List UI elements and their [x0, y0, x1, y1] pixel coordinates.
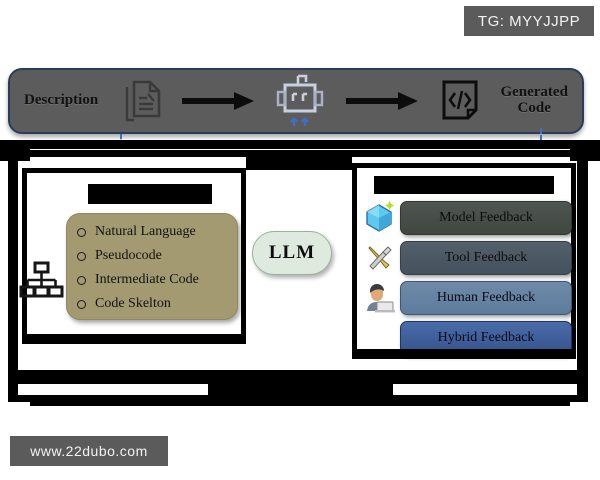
redaction-bar-left-edge — [8, 150, 18, 402]
feedback-model-box[interactable]: Model Feedback — [400, 201, 572, 235]
right-panel-title-redaction — [374, 176, 554, 194]
bullet-icon — [77, 300, 86, 309]
redaction-bar-bottom-3 — [30, 396, 570, 406]
feedback-list: ✦ Model Feedback Tool Feedback Human Fee… — [358, 198, 572, 358]
redaction-bar-center-gap — [246, 150, 352, 170]
list-item: Human Feedback — [358, 278, 572, 317]
robot-icon — [274, 73, 326, 129]
input-type-label: Pseudocode — [95, 248, 162, 264]
llm-node: LLM — [252, 231, 332, 275]
tools-icon — [358, 239, 400, 277]
cube-icon: ✦ — [358, 199, 400, 237]
input-types-box: Natural Language Pseudocode Intermediate… — [66, 213, 238, 320]
feedback-human-box[interactable]: Human Feedback — [400, 281, 572, 315]
redaction-bar-left-inner — [22, 334, 246, 344]
redaction-bar-top-left — [0, 140, 300, 149]
list-item: Tool Feedback — [358, 238, 572, 277]
right-arrow-icon-2 — [346, 90, 418, 112]
pipeline-start-label: Description — [24, 93, 98, 109]
list-item: Pseudocode — [77, 244, 229, 268]
redaction-bar-right-edge — [578, 150, 588, 402]
list-item: ✦ Model Feedback — [358, 198, 572, 237]
person-laptop-icon — [358, 279, 400, 317]
list-item: Code Skelton — [77, 292, 229, 316]
left-panel-title-redaction — [88, 184, 212, 204]
input-type-label: Code Skelton — [95, 296, 171, 312]
pipeline-bar: Description — [8, 68, 584, 134]
code-file-icon — [438, 78, 480, 124]
redaction-bar-top-right — [300, 140, 600, 149]
feedback-tool-box[interactable]: Tool Feedback — [400, 241, 572, 275]
list-item: Natural Language — [77, 220, 229, 244]
site-watermark-badge: www.22dubo.com — [10, 436, 168, 466]
pipeline-end-label-line1: Generated — [500, 85, 567, 101]
right-arrow-icon — [182, 90, 254, 112]
hierarchy-icon — [18, 258, 66, 304]
list-item: Intermediate Code — [77, 268, 229, 292]
input-type-label: Natural Language — [95, 224, 196, 240]
redaction-bar-right-inner — [352, 349, 576, 359]
sparkle-icon: ✦ — [383, 200, 396, 215]
pipeline-end-label: Generated Code — [500, 85, 567, 117]
bullet-icon — [77, 228, 86, 237]
document-icon — [118, 78, 162, 124]
bullet-icon — [77, 276, 86, 285]
pipeline-end-label-line2: Code — [500, 101, 567, 117]
bullet-icon — [77, 252, 86, 261]
input-type-label: Intermediate Code — [95, 272, 199, 288]
tg-badge: TG: MYYJJPP — [464, 6, 594, 36]
